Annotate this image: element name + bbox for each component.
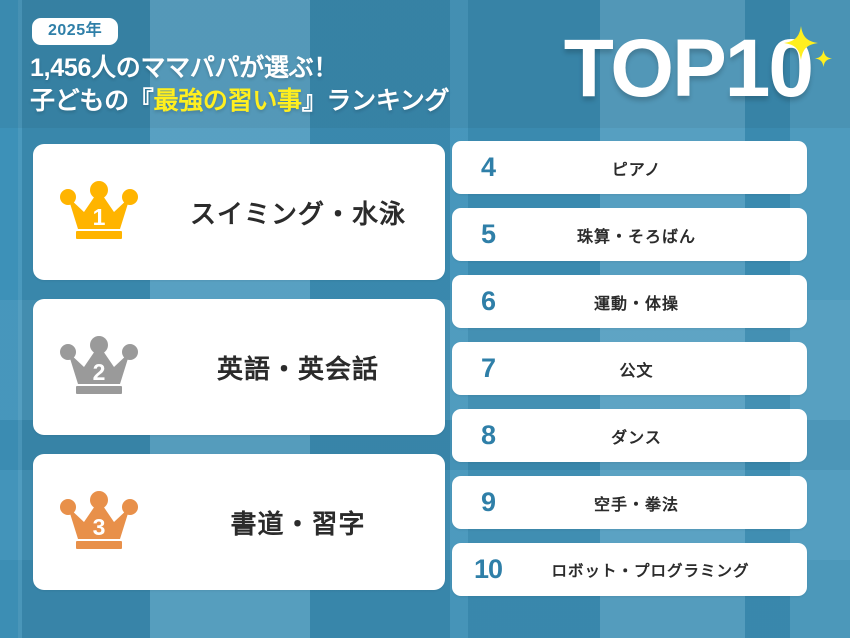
- rank-row-10-number: 10: [452, 554, 524, 585]
- rank-card-3[interactable]: 3 書道・習字: [33, 454, 445, 590]
- top10-logo: TOP10: [564, 28, 812, 110]
- rank-row-4[interactable]: 4 ピアノ: [452, 141, 807, 194]
- rank-row-4-label: ピアノ: [524, 156, 807, 180]
- rank-row-5-number: 5: [452, 219, 524, 250]
- svg-text:2: 2: [93, 359, 106, 385]
- rank-card-3-label: 書道・習字: [165, 504, 445, 541]
- rank-row-4-number: 4: [452, 152, 524, 183]
- svg-text:1: 1: [93, 204, 106, 230]
- title-line-2: 子どもの『最強の習い事』ランキング: [30, 85, 449, 118]
- title-line-1: 1,456人のママパパが選ぶ！: [30, 52, 449, 85]
- rank-card-1-label: スイミング・水泳: [165, 194, 445, 231]
- rank-row-9[interactable]: 9 空手・拳法: [452, 476, 807, 529]
- rank-row-9-label: 空手・拳法: [524, 491, 807, 515]
- title-line-2-suffix: 』ランキング: [302, 87, 449, 115]
- sparkle-small-icon: [815, 50, 832, 67]
- header: 2025年 1,456人のママパパが選ぶ！ 子どもの『最強の習い事』ランキング …: [0, 0, 850, 136]
- rank-row-7-number: 7: [452, 353, 524, 384]
- rank-row-9-number: 9: [452, 487, 524, 518]
- ranks-four-to-ten-list: 4 ピアノ 5 珠算・そろばん 6 運動・体操 7 公文 8 ダンス 9 空手・…: [452, 141, 807, 610]
- rank-row-7-label: 公文: [524, 357, 807, 381]
- rank-card-2[interactable]: 2 英語・英会話: [33, 299, 445, 435]
- svg-text:3: 3: [93, 514, 106, 540]
- title-highlight: 最強の習い事: [154, 87, 302, 115]
- rank-row-7[interactable]: 7 公文: [452, 342, 807, 395]
- rank-row-8[interactable]: 8 ダンス: [452, 409, 807, 462]
- title-line-2-prefix: 子どもの『: [30, 87, 154, 115]
- infographic-canvas: 2025年 1,456人のママパパが選ぶ！ 子どもの『最強の習い事』ランキング …: [0, 0, 850, 638]
- rank-row-8-number: 8: [452, 420, 524, 451]
- rank-card-2-label: 英語・英会話: [165, 349, 445, 386]
- rank-row-10[interactable]: 10 ロボット・プログラミング: [452, 543, 807, 596]
- sparkle-large-icon: [784, 26, 818, 60]
- rank-row-5-label: 珠算・そろばん: [524, 223, 807, 247]
- bronze-crown-icon: 3: [33, 491, 165, 553]
- silver-crown-icon: 2: [33, 336, 165, 398]
- rank-row-10-label: ロボット・プログラミング: [524, 559, 807, 581]
- gold-crown-icon: 1: [33, 181, 165, 243]
- year-badge: 2025年: [32, 18, 118, 45]
- rank-card-1[interactable]: 1 スイミング・水泳: [33, 144, 445, 280]
- rank-row-6-number: 6: [452, 286, 524, 317]
- rank-row-6[interactable]: 6 運動・体操: [452, 275, 807, 328]
- rank-row-5[interactable]: 5 珠算・そろばん: [452, 208, 807, 261]
- rank-row-8-label: ダンス: [524, 424, 807, 448]
- rank-row-6-label: 運動・体操: [524, 290, 807, 314]
- top-three-list: 1 スイミング・水泳 2 英語・英会話: [33, 144, 445, 609]
- page-title: 1,456人のママパパが選ぶ！ 子どもの『最強の習い事』ランキング: [30, 52, 449, 118]
